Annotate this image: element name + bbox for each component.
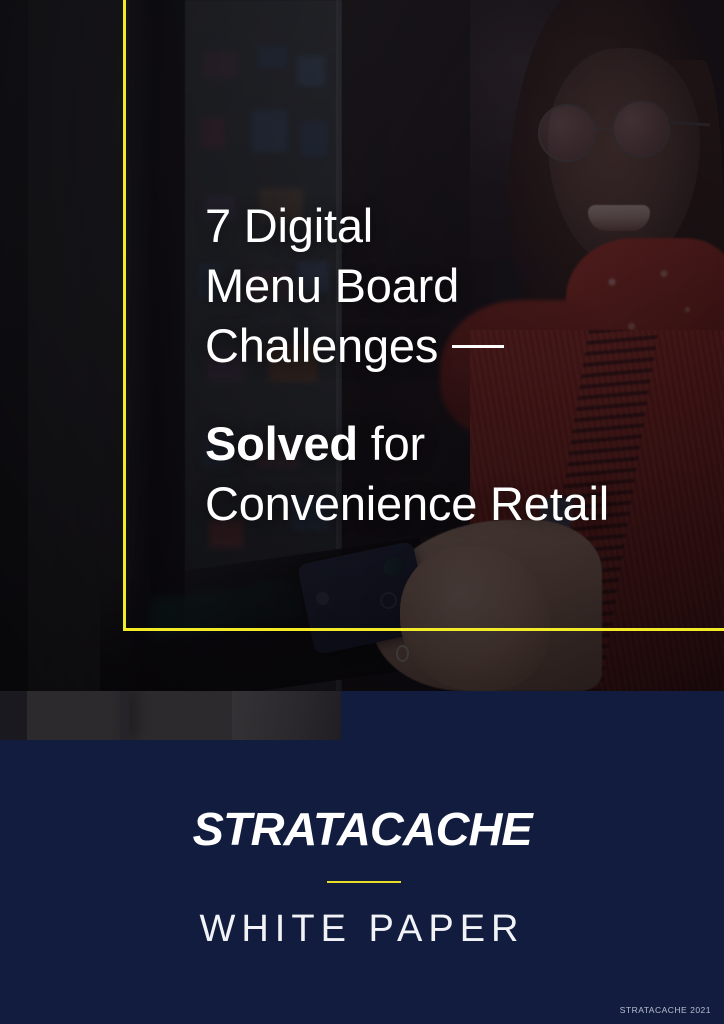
hero-foot-kiosk-panel: [232, 691, 341, 740]
headline-line-5: Convenience Retail: [205, 474, 609, 534]
headline-line-3-text: Challenges: [205, 319, 438, 372]
whitepaper-cover-page: 7 Digital Menu Board Challenges Solved f…: [0, 0, 724, 1024]
cover-headline: 7 Digital Menu Board Challenges Solved f…: [205, 196, 609, 534]
logo-container: STRATACACHE: [0, 802, 724, 856]
headline-spacer: [205, 376, 609, 414]
yellow-frame-vertical-rule: [123, 0, 126, 631]
headline-line-3: Challenges: [205, 316, 609, 376]
subtitle-container: WHITE PAPER: [0, 908, 724, 951]
brand-footer-block: STRATACACHE WHITE PAPER STRATACACHE 2021: [0, 740, 724, 1024]
copyright-notice: STRATACACHE 2021: [620, 1005, 711, 1015]
yellow-divider-rule: [327, 881, 401, 883]
hero-foot-kiosk-edge: [120, 691, 129, 740]
headline-line-1: 7 Digital: [205, 196, 609, 256]
hero-foot-wall-strip: [0, 691, 27, 740]
headline-line-4: Solved for: [205, 414, 609, 474]
stratacache-logo: STRATACACHE: [193, 802, 532, 856]
hero-photo-lower-step: [0, 691, 341, 740]
white-paper-subtitle: WHITE PAPER: [200, 908, 525, 951]
yellow-frame-horizontal-rule: [123, 628, 724, 631]
headline-line-2: Menu Board: [205, 256, 609, 316]
headline-line-4-rest: for: [358, 417, 425, 470]
headline-em-dash: [452, 345, 504, 348]
headline-solved-emphasis: Solved: [205, 417, 358, 470]
